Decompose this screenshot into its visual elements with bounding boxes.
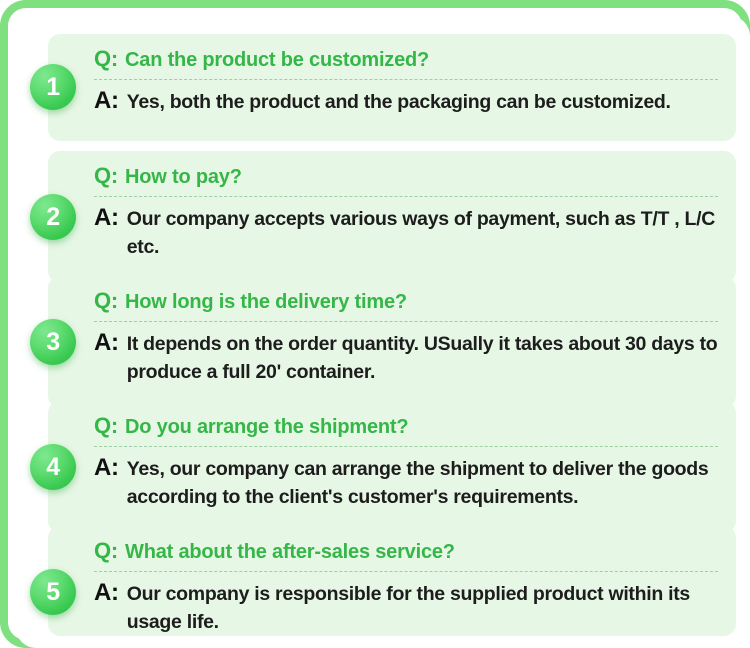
faq-card[interactable]: Q: Can the product be customized? A: Yes… bbox=[48, 34, 736, 141]
faq-question-row: Q: How to pay? bbox=[94, 160, 718, 191]
faq-divider bbox=[94, 79, 718, 80]
faq-number-badge: 5 bbox=[30, 569, 76, 615]
faq-question-text: What about the after-sales service? bbox=[125, 538, 718, 566]
faq-answer-row: A: Yes, both the product and the packagi… bbox=[94, 84, 718, 118]
question-marker: Q: bbox=[94, 43, 118, 74]
faq-number-badge: 4 bbox=[30, 444, 76, 490]
faq-card[interactable]: Q: What about the after-sales service? A… bbox=[48, 526, 736, 636]
faq-answer-text: It depends on the order quantity. USuall… bbox=[127, 331, 718, 386]
faq-number-badge: 2 bbox=[30, 194, 76, 240]
faq-question-text: Do you arrange the shipment? bbox=[125, 413, 718, 441]
faq-question-row: Q: What about the after-sales service? bbox=[94, 535, 718, 566]
answer-marker: A: bbox=[94, 576, 119, 610]
faq-number-badge: 3 bbox=[30, 319, 76, 365]
faq-list: Q: Can the product be customized? A: Yes… bbox=[16, 16, 750, 648]
faq-answer-text: Our company is responsible for the suppl… bbox=[127, 581, 718, 636]
faq-answer-text: Yes, both the product and the packaging … bbox=[127, 89, 718, 117]
faq-answer-text: Yes, our company can arrange the shipmen… bbox=[127, 456, 718, 511]
faq-question-row: Q: Do you arrange the shipment? bbox=[94, 410, 718, 441]
faq-number-badge: 1 bbox=[30, 64, 76, 110]
faq-divider bbox=[94, 321, 718, 322]
faq-outer-frame: Q: Can the product be customized? A: Yes… bbox=[0, 0, 750, 648]
question-marker: Q: bbox=[94, 410, 118, 441]
faq-question-row: Q: How long is the delivery time? bbox=[94, 285, 718, 316]
answer-marker: A: bbox=[94, 326, 119, 360]
faq-answer-row: A: Our company accepts various ways of p… bbox=[94, 201, 718, 261]
question-marker: Q: bbox=[94, 535, 118, 566]
answer-marker: A: bbox=[94, 84, 119, 118]
faq-card[interactable]: Q: Do you arrange the shipment? A: Yes, … bbox=[48, 401, 736, 533]
faq-answer-row: A: Our company is responsible for the su… bbox=[94, 576, 718, 636]
faq-answer-row: A: It depends on the order quantity. USu… bbox=[94, 326, 718, 386]
faq-card[interactable]: Q: How long is the delivery time? A: It … bbox=[48, 276, 736, 408]
faq-divider bbox=[94, 446, 718, 447]
faq-question-row: Q: Can the product be customized? bbox=[94, 43, 718, 74]
faq-answer-row: A: Yes, our company can arrange the ship… bbox=[94, 451, 718, 511]
answer-marker: A: bbox=[94, 451, 119, 485]
faq-divider bbox=[94, 571, 718, 572]
faq-question-text: How long is the delivery time? bbox=[125, 288, 718, 316]
faq-panel: Q: Can the product be customized? A: Yes… bbox=[16, 16, 750, 648]
faq-answer-text: Our company accepts various ways of paym… bbox=[127, 206, 718, 261]
faq-divider bbox=[94, 196, 718, 197]
faq-card[interactable]: Q: How to pay? A: Our company accepts va… bbox=[48, 151, 736, 283]
faq-question-text: Can the product be customized? bbox=[125, 46, 718, 74]
answer-marker: A: bbox=[94, 201, 119, 235]
question-marker: Q: bbox=[94, 285, 118, 316]
question-marker: Q: bbox=[94, 160, 118, 191]
faq-question-text: How to pay? bbox=[125, 163, 718, 191]
